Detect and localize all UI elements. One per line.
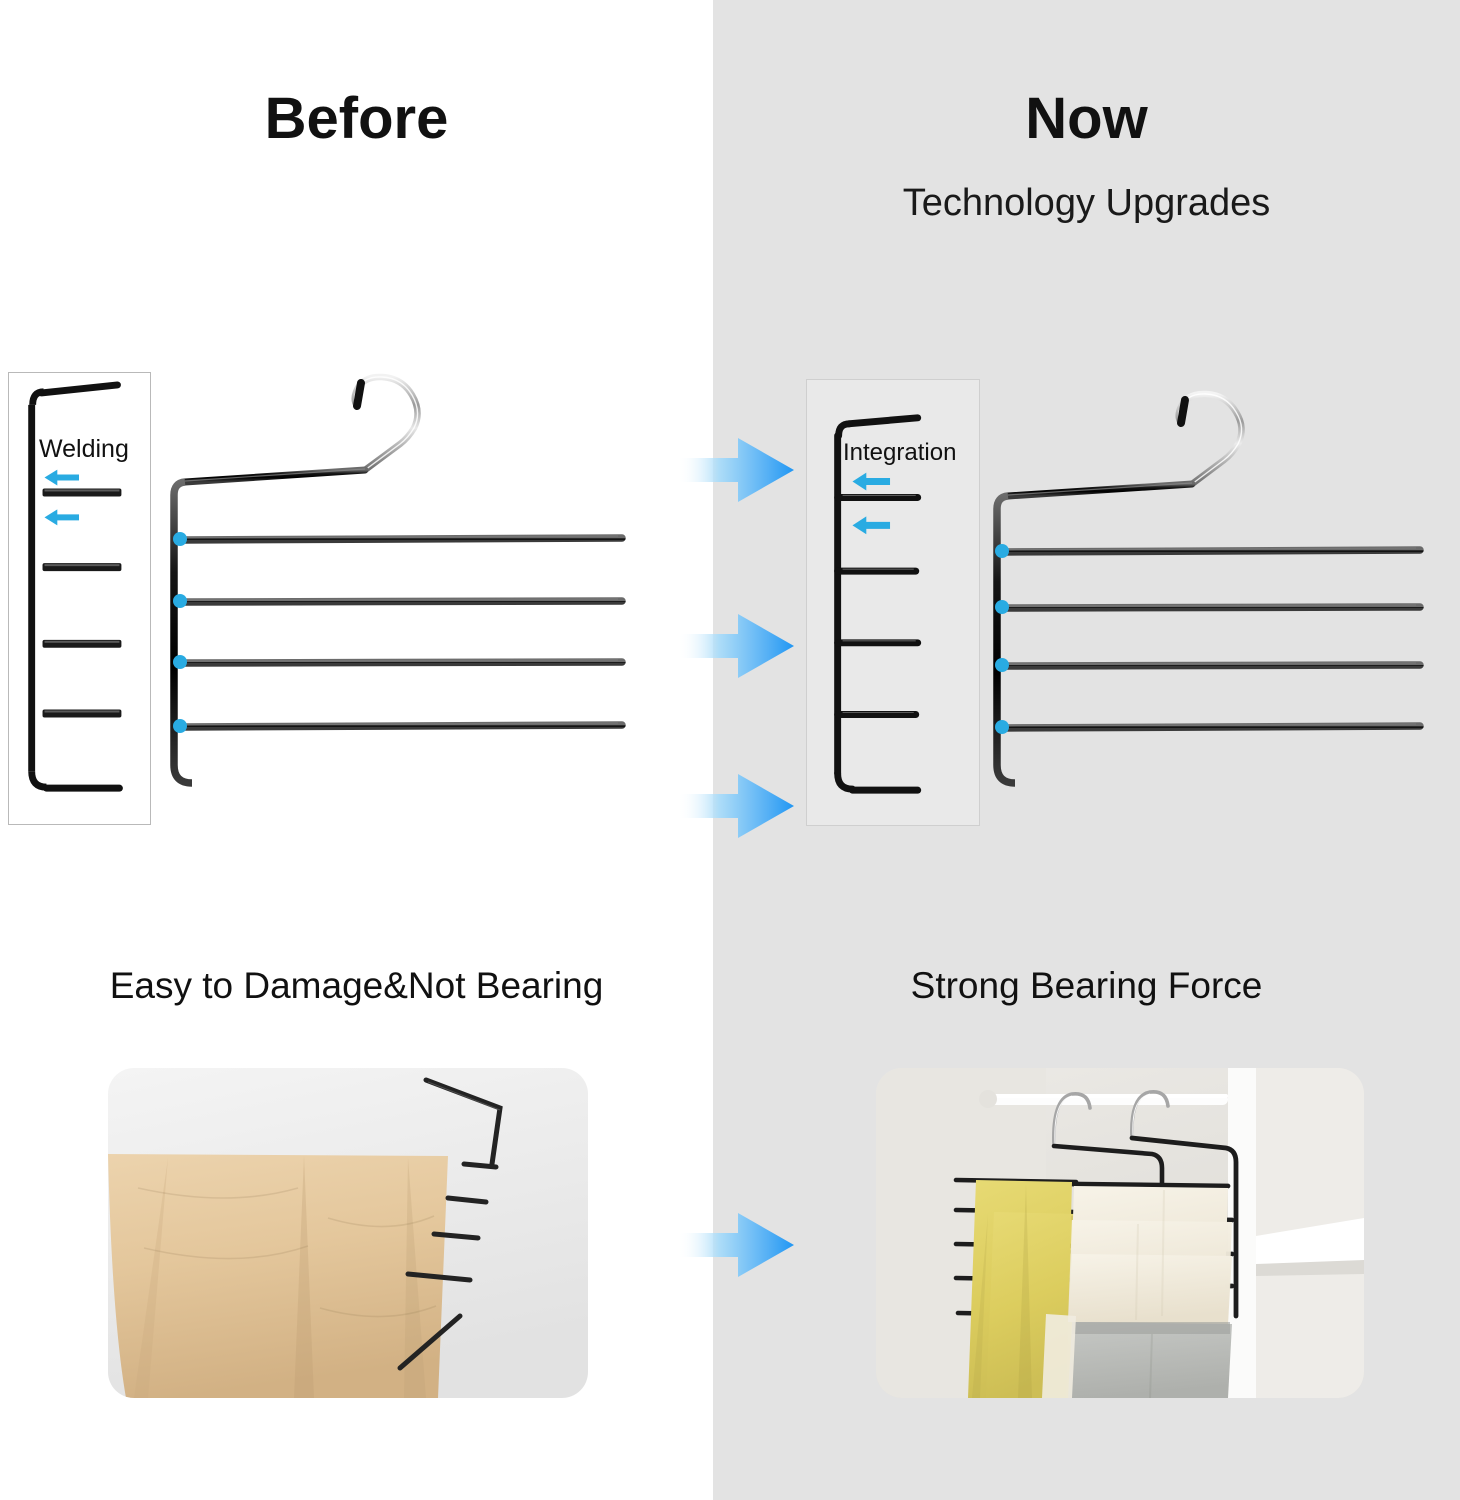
photo-closet-hangers	[876, 1068, 1364, 1398]
transition-arrow-2	[676, 608, 796, 684]
photo-damaged-hanger	[108, 1068, 588, 1398]
arrow-right-icon	[676, 432, 796, 508]
callout-welding-label: Welding	[39, 435, 129, 464]
hanger-illustration-now	[980, 360, 1442, 802]
caption-easy-to-damage: Easy to Damage&Not Bearing	[0, 965, 713, 1007]
caption-strong-bearing-force: Strong Bearing Force	[713, 965, 1460, 1007]
transition-arrow-1	[676, 432, 796, 508]
photo-beige-pants-image	[108, 1068, 588, 1398]
callout-integration: Integration	[806, 379, 980, 826]
arrow-right-icon	[676, 608, 796, 684]
page-title-before: Before	[0, 85, 713, 152]
callout-welding: Welding	[8, 372, 151, 825]
arrow-right-icon	[676, 1207, 796, 1283]
hanger-now-icon	[980, 360, 1442, 802]
hanger-illustration-before	[160, 340, 660, 820]
photo-closet-pants-image	[876, 1068, 1364, 1398]
subtitle-technology-upgrades: Technology Upgrades	[713, 182, 1460, 225]
hanger-before-icon	[160, 340, 660, 820]
arrow-right-icon	[676, 768, 796, 844]
transition-arrow-3	[676, 768, 796, 844]
page-title-now: Now	[713, 85, 1460, 152]
transition-arrow-4	[676, 1207, 796, 1283]
callout-integration-label: Integration	[843, 439, 956, 467]
comparison-infographic: Before Now Technology Upgrades	[0, 0, 1460, 1500]
